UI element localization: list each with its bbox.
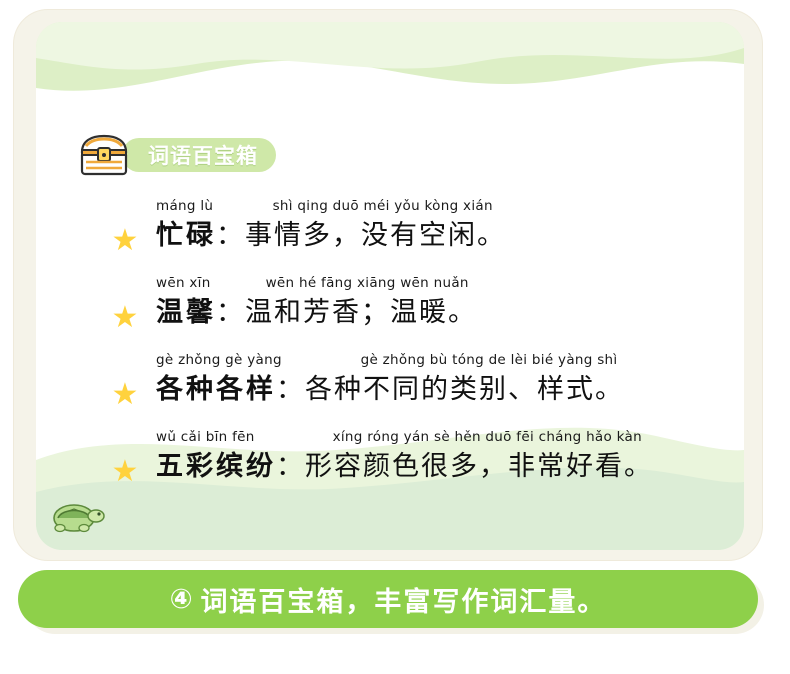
pinyin-definition: gè zhǒng bù tóng de lèi bié yàng shì — [361, 352, 618, 368]
bottom-banner: ④ 词语百宝箱，丰富写作词汇量。 — [18, 570, 758, 628]
pinyin-definition: wēn hé fāng xiāng wēn nuǎn — [266, 275, 469, 291]
treasure-chest-icon — [78, 132, 130, 178]
pinyin-row: wǔ cǎi bīn fēn xíng róng yán sè hěn duō … — [156, 429, 738, 449]
banner-number: ④ — [170, 584, 193, 615]
vocabulary-list: ★ máng lù shì qing duō méi yǒu kòng xián… — [98, 198, 738, 506]
vocab-word: 温馨 — [156, 297, 216, 328]
star-icon: ★ — [110, 226, 140, 256]
hanzi-row: 忙碌：事情多，没有空闲。 — [156, 219, 738, 253]
pinyin-word: wǔ cǎi bīn fēn — [156, 429, 328, 445]
list-item: ★ máng lù shì qing duō méi yǒu kòng xián… — [98, 198, 738, 253]
decorative-wave-top — [36, 22, 744, 142]
star-icon: ★ — [110, 457, 140, 487]
page-root: 词语百宝箱 ★ máng lù shì qing duō méi yǒu kòn… — [0, 0, 790, 674]
hanzi-row: 五彩缤纷：形容颜色很多，非常好看。 — [156, 450, 738, 484]
pinyin-word: wēn xīn — [156, 275, 261, 291]
page-card-frame: 词语百宝箱 ★ máng lù shì qing duō méi yǒu kòn… — [14, 10, 762, 560]
hanzi-row: 温馨：温和芳香；温暖。 — [156, 296, 738, 330]
pinyin-row: wēn xīn wēn hé fāng xiāng wēn nuǎn — [156, 275, 738, 295]
pinyin-definition: xíng róng yán sè hěn duō fēi cháng hǎo k… — [333, 429, 642, 445]
vocab-word: 忙碌 — [156, 220, 216, 251]
banner-text: 词语百宝箱，丰富写作词汇量。 — [200, 580, 606, 619]
turtle-icon — [44, 492, 108, 538]
section-title-chip: 词语百宝箱 — [122, 138, 276, 172]
vocab-definition: ：温和芳香；温暖。 — [216, 297, 477, 328]
section-title: 词语百宝箱 — [148, 140, 258, 170]
vocab-definition: ：事情多，没有空闲。 — [216, 220, 506, 251]
hanzi-row: 各种各样：各种不同的类别、样式。 — [156, 373, 738, 407]
vocab-definition: ：形容颜色很多，非常好看。 — [276, 451, 653, 482]
page-card: 词语百宝箱 ★ máng lù shì qing duō méi yǒu kòn… — [36, 22, 744, 550]
pinyin-row: gè zhǒng gè yàng gè zhǒng bù tóng de lèi… — [156, 352, 738, 372]
vocab-definition: ：各种不同的类别、样式。 — [276, 374, 624, 405]
pinyin-row: máng lù shì qing duō méi yǒu kòng xián — [156, 198, 738, 218]
vocab-word: 五彩缤纷 — [156, 451, 276, 482]
star-icon: ★ — [110, 380, 140, 410]
vocab-word: 各种各样 — [156, 374, 276, 405]
pinyin-definition: shì qing duō méi yǒu kòng xián — [273, 198, 493, 214]
list-item: ★ wēn xīn wēn hé fāng xiāng wēn nuǎn 温馨：… — [98, 275, 738, 330]
pinyin-word: máng lù — [156, 198, 268, 214]
star-icon: ★ — [110, 303, 140, 333]
pinyin-word: gè zhǒng gè yàng — [156, 352, 356, 368]
section-header: 词语百宝箱 — [78, 130, 276, 180]
list-item: ★ wǔ cǎi bīn fēn xíng róng yán sè hěn du… — [98, 429, 738, 484]
list-item: ★ gè zhǒng gè yàng gè zhǒng bù tóng de l… — [98, 352, 738, 407]
